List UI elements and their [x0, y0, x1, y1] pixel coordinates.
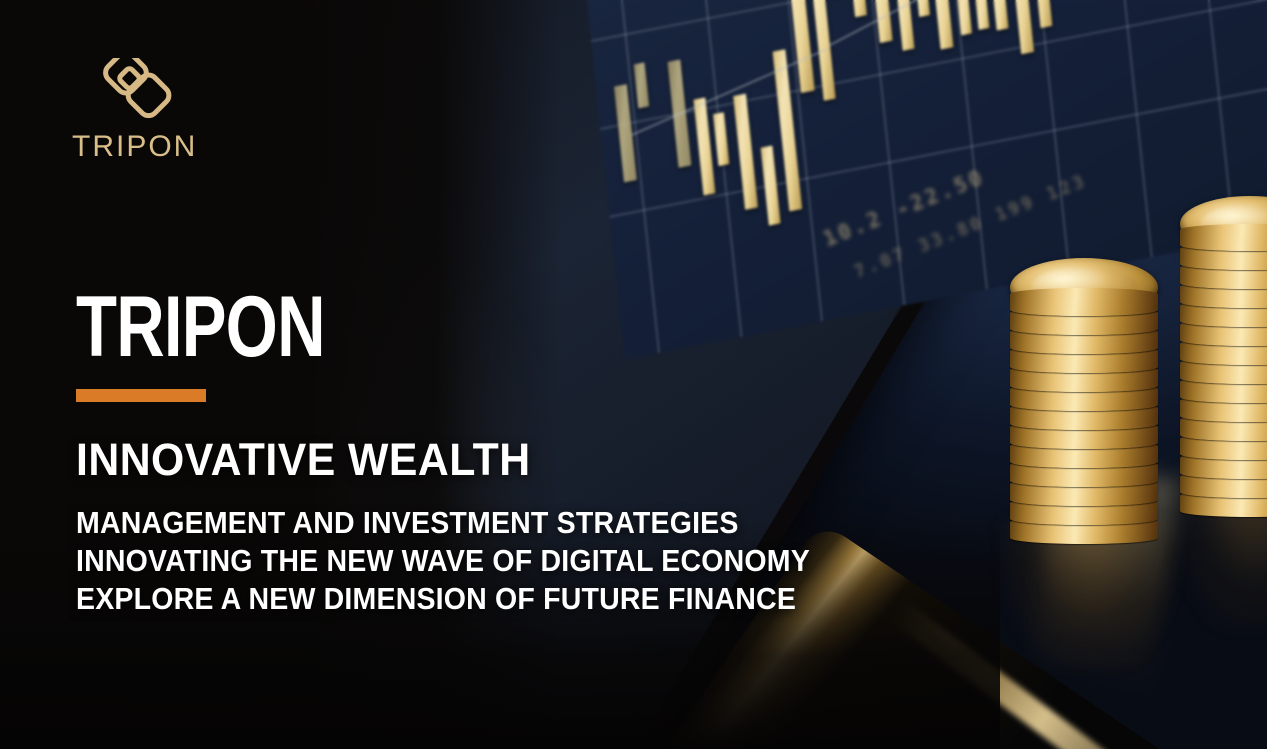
hero-description: MANAGEMENT AND INVESTMENT STRATEGIESINNO…: [76, 504, 874, 617]
hero-subtitle: INNOVATIVE WEALTH: [76, 434, 834, 486]
brand-logo[interactable]: TRIPON: [72, 58, 197, 164]
hero-description-line: EXPLORE A NEW DIMENSION OF FUTURE FINANC…: [76, 580, 810, 618]
marketing-banner: 10.2 -22.50 7.07 33.80 199 123 TRIPON TR…: [0, 0, 1267, 749]
coin: [1010, 288, 1158, 316]
logo-svg: [92, 58, 174, 120]
hero-description-line: MANAGEMENT AND INVESTMENT STRATEGIES: [76, 504, 810, 542]
coin: [1180, 224, 1267, 251]
interlocking-diamonds-logo-icon: [92, 58, 174, 120]
brand-wordmark: TRIPON: [72, 130, 197, 164]
hero-description-line: INNOVATING THE NEW WAVE OF DIGITAL ECONO…: [76, 542, 810, 580]
accent-rule: [76, 389, 206, 402]
page-title: TRIPON: [76, 288, 698, 367]
hero-content: TRIPON INNOVATIVE WEALTH MANAGEMENT AND …: [76, 288, 874, 618]
